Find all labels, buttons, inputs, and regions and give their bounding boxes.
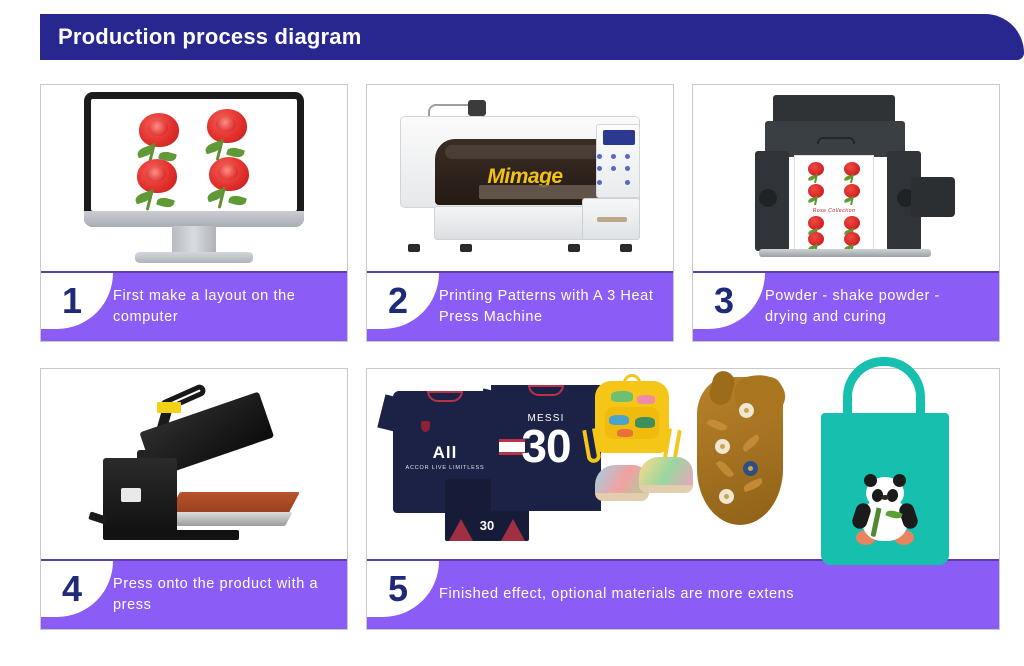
process-step-card-5[interactable]: All ACCOR LIVE LIMITLESS 30 MESSI — [366, 368, 1000, 630]
step-number: 1 — [41, 273, 103, 329]
step-number: 3 — [693, 273, 755, 329]
printer-head-unit — [468, 100, 486, 116]
press-warning-label — [157, 402, 181, 413]
printer-hood: Mimage — [435, 139, 615, 205]
dtf-printer-illustration: Mimage — [394, 98, 646, 258]
shorts-number: 30 — [480, 518, 494, 533]
swimsuit-flower — [715, 439, 730, 454]
process-step-card-3[interactable]: Rose Collection 3 Powder - shake powder … — [692, 84, 1000, 342]
panda-tote-bag — [821, 413, 949, 565]
step-1-image — [41, 85, 347, 271]
printer-drawer[interactable] — [582, 198, 640, 240]
process-step-card-1[interactable]: 1 First make a layout on the computer — [40, 84, 348, 342]
team-crest — [421, 421, 430, 432]
dino-print — [617, 429, 633, 437]
film-rose-graphic — [805, 184, 827, 205]
step-4-footer: 4 Press onto the product with a press — [41, 559, 347, 629]
film-label-text: Rose Collection — [795, 208, 873, 214]
film-rose-graphic — [805, 162, 827, 183]
panel-button[interactable] — [625, 180, 630, 185]
press-cabinet-label — [121, 488, 141, 502]
floral-swimsuit — [697, 377, 783, 525]
printer-foot — [460, 244, 472, 252]
shaker-motor-unit — [911, 177, 955, 217]
tote-logo-print — [837, 429, 863, 445]
panel-button[interactable] — [611, 166, 616, 171]
press-base-plate — [157, 512, 292, 526]
step-3-image: Rose Collection — [693, 85, 999, 271]
step-number: 2 — [367, 273, 429, 329]
step-4-caption: Press onto the product with a press — [113, 561, 337, 629]
swimsuit-flower — [743, 461, 758, 476]
step-2-footer: 2 Printing Patterns with A 3 Heat Press … — [367, 271, 673, 341]
page-title: Production process diagram — [40, 24, 362, 50]
monitor-screen — [91, 99, 297, 211]
step-number: 4 — [41, 561, 103, 617]
step-1-caption: First make a layout on the computer — [113, 273, 337, 341]
backpack-loop — [623, 374, 641, 386]
monitor-stand-base — [135, 252, 253, 263]
panel-button[interactable] — [597, 180, 602, 185]
dino-print — [611, 391, 633, 402]
jersey-brand-text: All — [433, 443, 458, 463]
printer-base — [434, 206, 602, 240]
jersey-collar — [528, 385, 564, 396]
tote-handle — [843, 357, 925, 419]
rose-graphic — [201, 157, 257, 209]
monitor-stand-neck — [172, 226, 216, 254]
step-2-caption: Printing Patterns with A 3 Heat Press Ma… — [439, 273, 663, 341]
shoe-sole — [639, 485, 693, 493]
panel-button[interactable] — [597, 154, 602, 159]
step-4-image — [41, 369, 347, 559]
kids-shoe-right — [639, 457, 693, 493]
header-banner: Production process diagram — [40, 14, 1024, 60]
step-5-caption: Finished effect, optional materials are … — [439, 561, 989, 629]
step-3-caption: Powder - shake powder - drying and curin… — [765, 273, 989, 341]
shaker-handle[interactable] — [817, 137, 855, 144]
printer-lcd-screen — [603, 130, 635, 145]
swimsuit-flower — [719, 489, 734, 504]
panda-print — [848, 475, 922, 545]
panda-head — [866, 477, 904, 509]
swimsuit-shoulder-strap — [707, 369, 737, 407]
film-rose-graphic — [841, 162, 863, 183]
rose-graphic — [129, 159, 185, 211]
monitor-chin — [84, 211, 304, 227]
monitor-bezel — [84, 92, 304, 227]
shoe-sole — [595, 493, 649, 501]
step-1-footer: 1 First make a layout on the computer — [41, 271, 347, 341]
player-number: 30 — [521, 423, 570, 469]
shaker-base-rail — [759, 249, 931, 257]
step-5-footer: 5 Finished effect, optional materials ar… — [367, 559, 999, 629]
panel-button[interactable] — [625, 166, 630, 171]
step-3-footer: 3 Powder - shake powder - drying and cur… — [693, 271, 999, 341]
process-step-card-4[interactable]: 4 Press onto the product with a press — [40, 368, 348, 630]
printer-foot — [408, 244, 420, 252]
panel-button[interactable] — [625, 154, 630, 159]
panel-button[interactable] — [597, 166, 602, 171]
swimsuit-flower — [739, 403, 754, 418]
heat-press-illustration — [81, 392, 307, 552]
powder-shaker-illustration: Rose Collection — [731, 93, 961, 263]
film-rose-graphic — [841, 184, 863, 205]
printer-foot — [568, 244, 580, 252]
computer-monitor-illustration — [84, 92, 304, 271]
press-foot-base — [103, 530, 239, 540]
step-number: 5 — [367, 561, 429, 617]
hood-reflection — [445, 145, 605, 159]
process-step-card-2[interactable]: Mimage — [366, 84, 674, 342]
dinosaur-backpack — [595, 381, 669, 453]
printer-foot — [620, 244, 632, 252]
dino-print — [635, 417, 655, 428]
rose-graphic — [131, 113, 187, 165]
jersey-collar — [427, 391, 463, 402]
printed-film-sheet: Rose Collection — [794, 155, 874, 251]
rose-graphic — [199, 109, 255, 161]
production-process-diagram-page: Production process diagram — [0, 0, 1024, 666]
jersey-brand-subtext: ACCOR LIVE LIMITLESS — [406, 465, 485, 471]
panel-button[interactable] — [611, 154, 616, 159]
dino-print — [637, 395, 655, 404]
dino-print — [609, 415, 629, 425]
step-2-image: Mimage — [367, 85, 673, 271]
shaker-knob[interactable] — [759, 189, 777, 207]
